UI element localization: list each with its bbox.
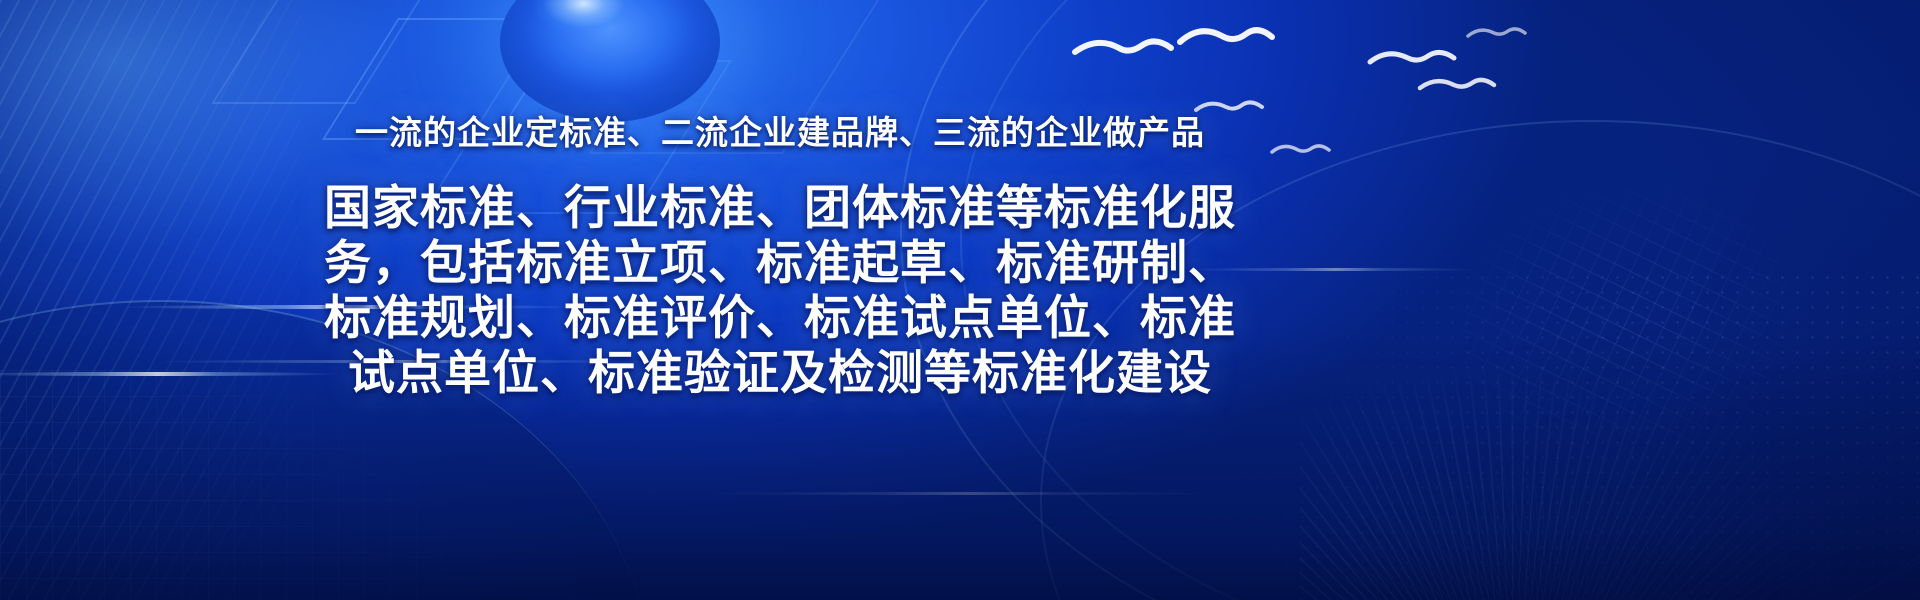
banner-body-line-1: 国家标准、行业标准、团体标准等标准化服 xyxy=(324,180,1236,235)
banner-body-line-4: 试点单位、标准验证及检测等标准化建设 xyxy=(348,345,1212,400)
banner-headline: 一流的企业定标准、二流企业建品牌、三流的企业做产品 xyxy=(355,112,1205,154)
promotional-banner: 一流的企业定标准、二流企业建品牌、三流的企业做产品 国家标准、行业标准、团体标准… xyxy=(0,0,1920,600)
banner-text-container: 一流的企业定标准、二流企业建品牌、三流的企业做产品 国家标准、行业标准、团体标准… xyxy=(0,0,1560,600)
banner-body-text: 国家标准、行业标准、团体标准等标准化服 务，包括标准立项、标准起草、标准研制、 … xyxy=(324,180,1236,400)
banner-body-line-2: 务，包括标准立项、标准起草、标准研制、 xyxy=(324,235,1236,290)
banner-body-line-3: 标准规划、标准评价、标准试点单位、标准 xyxy=(324,290,1236,345)
